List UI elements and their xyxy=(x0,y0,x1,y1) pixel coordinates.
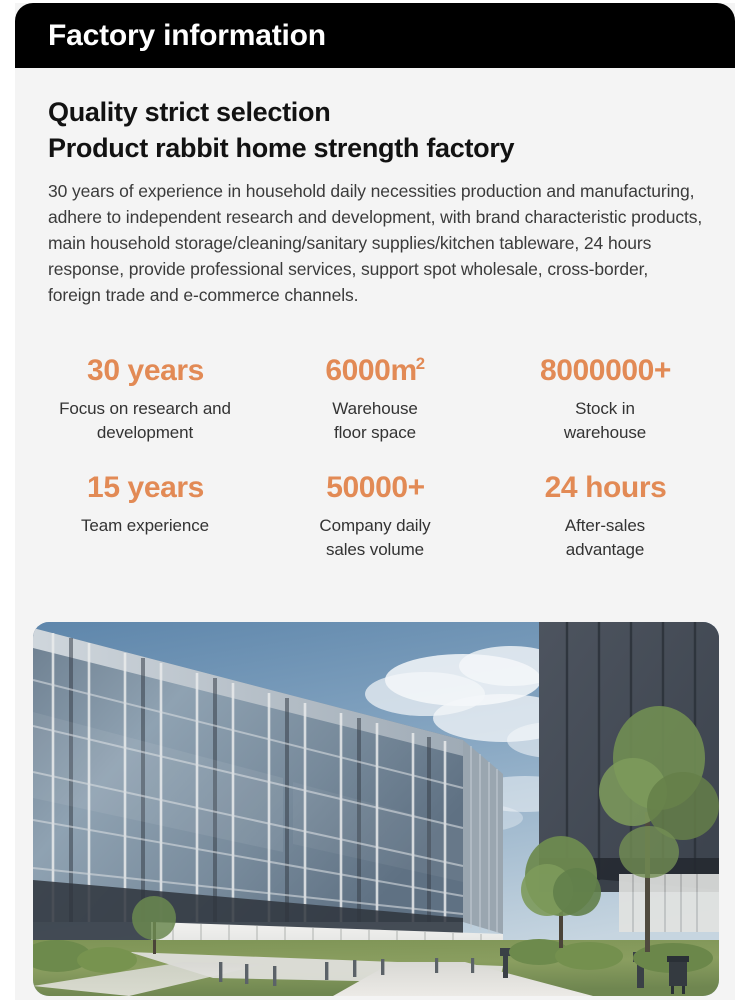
stat-value-text: 30 years xyxy=(87,354,204,387)
stat-item-stock-warehouse: 8000000+ Stock in warehouse xyxy=(490,352,720,445)
headline-line-1: Quality strict selection xyxy=(48,94,708,130)
stat-label-line-1: Focus on research and xyxy=(34,397,256,421)
stat-label: Company daily sales volume xyxy=(264,514,486,562)
stat-item-daily-sales: 50000+ Company daily sales volume xyxy=(260,469,490,562)
stat-value-text: 6000m xyxy=(325,354,416,387)
stat-label-line-2: advantage xyxy=(494,538,716,562)
factory-information-page: Factory information Quality strict selec… xyxy=(0,0,750,1000)
stat-label-line-1: Team experience xyxy=(34,514,256,538)
stat-item-warehouse-space: 6000m2 Warehouse floor space xyxy=(260,352,490,445)
stat-label-line-2: floor space xyxy=(264,421,486,445)
stat-label-line-2: warehouse xyxy=(494,421,716,445)
stat-label: Team experience xyxy=(34,514,256,538)
stat-label: Warehouse floor space xyxy=(264,397,486,445)
statistics-row-1: 30 years Focus on research and developme… xyxy=(30,352,720,445)
stat-label: Focus on research and development xyxy=(34,397,256,445)
stat-label-line-1: After-sales xyxy=(494,514,716,538)
stat-label-line-1: Warehouse xyxy=(264,397,486,421)
stat-value: 50000+ xyxy=(264,469,486,507)
stat-value: 6000m2 xyxy=(264,352,486,390)
stat-label: After-sales advantage xyxy=(494,514,716,562)
statistics-grid: 30 years Focus on research and developme… xyxy=(30,352,720,562)
stat-item-after-sales: 24 hours After-sales advantage xyxy=(490,469,720,562)
headline-line-2: Product rabbit home strength factory xyxy=(48,130,708,166)
stat-value: 15 years xyxy=(34,469,256,507)
background-building-right xyxy=(619,874,719,932)
page-title: Factory information xyxy=(48,19,326,53)
stat-item-focus-research: 30 years Focus on research and developme… xyxy=(30,352,260,445)
stat-label: Stock in warehouse xyxy=(494,397,716,445)
headline: Quality strict selection Product rabbit … xyxy=(48,94,708,166)
stat-value-text: 8000000+ xyxy=(540,354,671,387)
stat-value-text: 50000+ xyxy=(326,471,425,504)
factory-building-photo xyxy=(33,622,719,996)
stat-value-text: 15 years xyxy=(87,471,204,504)
stat-label-line-1: Stock in xyxy=(494,397,716,421)
stat-label-line-1: Company daily xyxy=(264,514,486,538)
stat-item-team-experience: 15 years Team experience xyxy=(30,469,260,562)
section-header-bar: Factory information xyxy=(15,3,735,68)
stat-value: 24 hours xyxy=(494,469,716,507)
statistics-row-2: 15 years Team experience 50000+ Company … xyxy=(30,469,720,562)
stat-value-superscript: 2 xyxy=(416,354,425,373)
description-paragraph: 30 years of experience in household dail… xyxy=(48,178,703,308)
stat-value-text: 24 hours xyxy=(545,471,667,504)
stat-value: 8000000+ xyxy=(494,352,716,390)
stat-label-line-2: sales volume xyxy=(264,538,486,562)
intro-block: Quality strict selection Product rabbit … xyxy=(48,94,708,308)
factory-building-illustration xyxy=(33,622,719,996)
stat-label-line-2: development xyxy=(34,421,256,445)
stat-value: 30 years xyxy=(34,352,256,390)
